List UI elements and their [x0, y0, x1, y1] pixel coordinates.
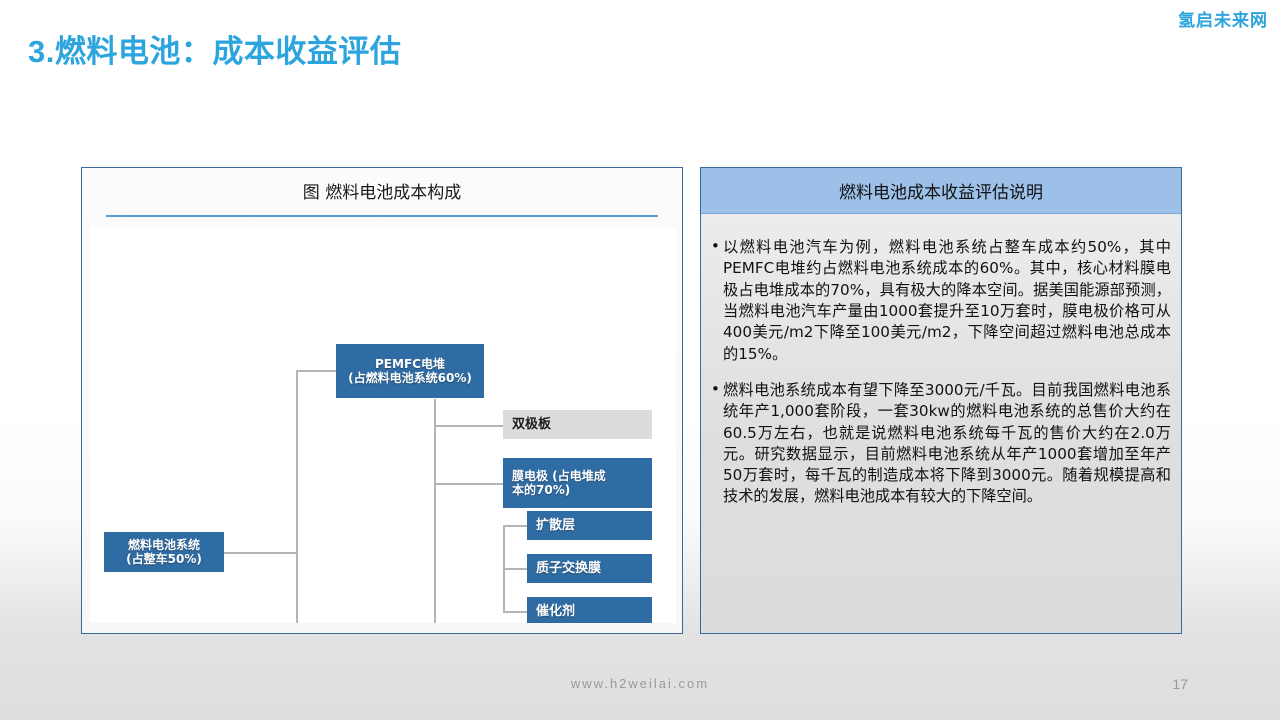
- assessment-panel-title: 燃料电池成本收益评估说明: [839, 178, 1043, 203]
- connector-pemfc-to-mea: [434, 483, 503, 485]
- connector-mea-to-gdl: [503, 525, 527, 527]
- node-label: 膜电极 (占电堆成 本的70%): [512, 469, 606, 497]
- bullet-item: 以燃料电池汽车为例，燃料电池系统占整车成本约50%，其中PEMFC电堆约占燃料电…: [711, 237, 1171, 365]
- connector-mea-to-catalyst: [503, 611, 527, 613]
- node-pemfc-stack[interactable]: PEMFC电堆 (占燃料电池系统60%): [336, 344, 484, 398]
- footer-url: www.h2weilai.com: [0, 676, 1280, 691]
- node-label: 燃料电池系统 (占整车50%): [126, 538, 202, 566]
- cost-structure-diagram: 燃料电池系统 (占整车50%) PEMFC电堆 (占燃料电池系统60%) 双极板…: [90, 227, 676, 623]
- node-membrane-electrode[interactable]: 膜电极 (占电堆成 本的70%): [503, 458, 652, 508]
- node-fuel-cell-system[interactable]: 燃料电池系统 (占整车50%): [104, 532, 224, 572]
- connector-system-to-trunk: [224, 552, 297, 554]
- node-label: 催化剂: [536, 604, 575, 619]
- slide-root: 氢启未来网 3.燃料电池：成本收益评估 图 燃料电池成本构成: [0, 0, 1280, 720]
- node-label: 质子交换膜: [536, 561, 601, 576]
- node-diffusion-layer[interactable]: 扩散层: [527, 511, 652, 540]
- assessment-panel-body: 以燃料电池汽车为例，燃料电池系统占整车成本约50%，其中PEMFC电堆约占燃料电…: [701, 214, 1181, 633]
- node-catalyst[interactable]: 催化剂: [527, 597, 652, 623]
- connector-trunk-vertical: [296, 370, 298, 623]
- assessment-panel: 燃料电池成本收益评估说明 以燃料电池汽车为例，燃料电池系统占整车成本约50%，其…: [700, 167, 1182, 634]
- figure-panel: 图 燃料电池成本构成 燃料电池系统 (占整车50%): [81, 167, 683, 634]
- connector-pemfc-vertical: [434, 399, 436, 623]
- node-label: 双极板: [512, 417, 551, 432]
- connector-trunk-to-pemfc: [296, 370, 336, 372]
- node-label: PEMFC电堆 (占燃料电池系统60%): [348, 357, 472, 385]
- connector-pemfc-to-bipolar: [434, 425, 503, 427]
- figure-title: 图 燃料电池成本构成: [82, 178, 682, 203]
- node-bipolar-plate[interactable]: 双极板: [503, 410, 652, 439]
- figure-title-divider: [106, 215, 658, 217]
- node-label: 扩散层: [536, 518, 575, 533]
- assessment-panel-header: 燃料电池成本收益评估说明: [701, 168, 1181, 214]
- bullet-item: 燃料电池系统成本有望下降至3000元/千瓦。目前我国燃料电池系统年产1,000套…: [711, 380, 1171, 508]
- connector-mea-to-pem: [503, 568, 527, 570]
- node-proton-exchange-membrane[interactable]: 质子交换膜: [527, 554, 652, 583]
- page-title: 3.燃料电池：成本收益评估: [28, 26, 401, 71]
- page-number: 17: [1172, 676, 1188, 692]
- brand-logo: 氢启未来网: [1178, 6, 1268, 31]
